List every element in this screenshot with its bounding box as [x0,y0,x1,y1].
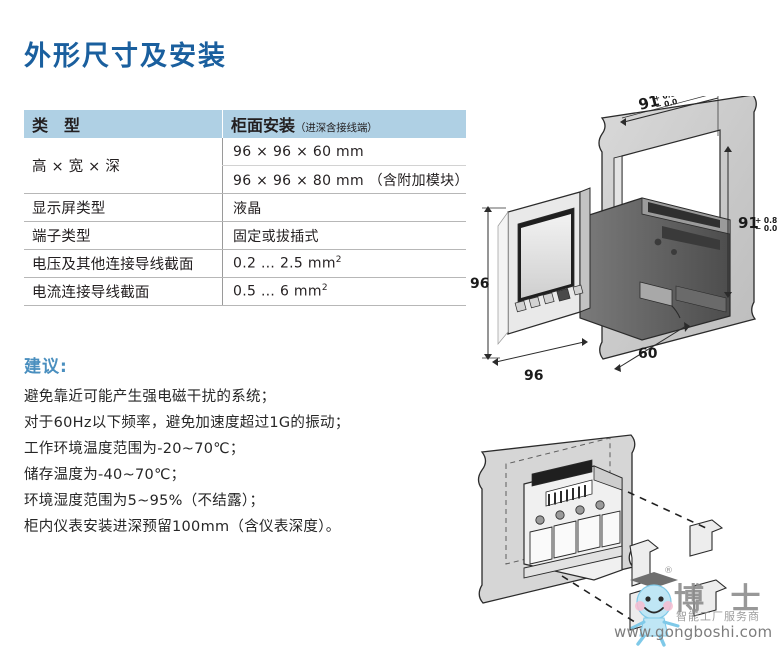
mounting-clip [630,540,658,586]
advice-line: 环境湿度范围为5~95%（不结露）； [24,488,444,514]
dimension-meter-width [492,338,588,366]
meter-rear-body [524,460,622,580]
table-row: 高 × 宽 × 深 96 × 96 × 60 mm [24,138,466,166]
dimension-label-cutout-height: 91 + 0.8 − 0.0 [738,214,777,233]
row-label-voltage-wire-section: 电压及其他连接导线截面 [24,250,223,278]
advice-line: 储存温度为-40~70℃； [24,462,444,488]
dimension-label-meter-depth: 60 [638,346,658,362]
meter-body [498,188,730,344]
table-row: 电流连接导线截面 0.5 … 6 mm2 [24,278,466,306]
table-header-row: 类 型 柜面安装（进深含接线端） [24,110,466,138]
row-label-current-wire-section: 电流连接导线截面 [24,278,223,306]
row-label-terminal-type: 端子类型 [24,222,223,250]
advice-block: 建议: 避免靠近可能产生强电磁干扰的系统； 对于60Hz以下频率，避免加速度超过… [24,352,444,540]
table-header-panel-mount-main: 柜面安装 [231,116,295,135]
mounting-clip [694,580,726,616]
row-value-display-type: 液晶 [223,194,467,222]
mounting-clip [630,588,660,630]
table-header-type: 类 型 [24,110,223,138]
row-label-display-type: 显示屏类型 [24,194,223,222]
mounting-clip [690,520,722,556]
row-value-voltage-wire-section: 0.2 … 2.5 mm2 [223,250,467,278]
table-header-panel-mount: 柜面安装（进深含接线端） [223,110,467,138]
row-value-current-wire-section-text: 0.5 … 6 mm [233,284,322,300]
dimension-label-meter-width: 96 [524,368,543,384]
table-header-panel-mount-note: （进深含接线端） [295,122,377,134]
advice-line: 工作环境温度范围为-20~70℃； [24,436,444,462]
advice-title: 建议: [24,352,444,377]
row-value-current-wire-section: 0.5 … 6 mm2 [223,278,467,306]
table-row: 显示屏类型 液晶 [24,194,466,222]
spec-table: 类 型 柜面安装（进深含接线端） 高 × 宽 × 深 96 × 96 × 60 … [24,110,466,306]
advice-line: 对于60Hz以下频率，避免加速度超过1G的振动； [24,410,444,436]
panel-cutout-installation-diagram: 96 96 60 91 + 0.8 − 0.0 91 + 0.8 − 0.0 [462,96,780,396]
table-row: 电压及其他连接导线截面 0.2 … 2.5 mm2 [24,250,466,278]
advice-line: 避免靠近可能产生强电磁干扰的系统； [24,384,444,410]
row-value-dimensions-with-module: 96 × 96 × 80 mm （含附加模块） [223,166,467,194]
dimension-tol-minus-cutout-height: − 0.0 [755,224,777,233]
row-value-current-wire-section-sup: 2 [322,283,328,293]
rear-mounting-clip-diagram [462,398,780,638]
dimension-label-meter-height: 96 [470,276,489,292]
row-value-voltage-wire-section-sup: 2 [336,255,342,265]
row-value-terminal-type: 固定或拔插式 [223,222,467,250]
page-title: 外形尺寸及安装 [24,34,227,73]
advice-line: 柜内仪表安装进深预留100mm（含仪表深度）。 [24,514,444,540]
table-row: 端子类型 固定或拔插式 [24,222,466,250]
row-value-dimensions-standard: 96 × 96 × 60 mm [223,138,467,166]
row-value-voltage-wire-section-text: 0.2 … 2.5 mm [233,256,336,272]
row-label-dimensions: 高 × 宽 × 深 [24,138,223,194]
